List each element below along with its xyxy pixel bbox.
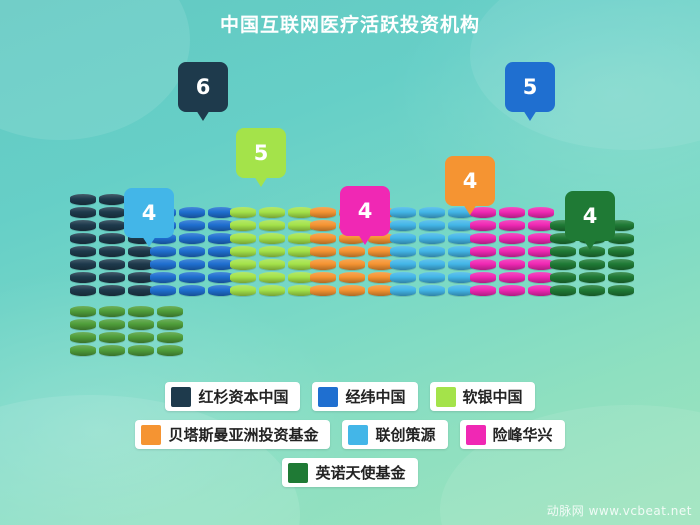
coin — [608, 246, 634, 257]
coin — [150, 272, 176, 283]
coin — [230, 233, 256, 244]
coin — [128, 319, 154, 330]
coin — [499, 220, 525, 231]
coin — [259, 285, 285, 296]
coin — [419, 285, 445, 296]
coin — [499, 259, 525, 270]
coin — [230, 272, 256, 283]
coin — [157, 306, 183, 317]
coin — [390, 233, 416, 244]
coin — [259, 233, 285, 244]
legend-swatch — [318, 387, 338, 407]
coin — [310, 246, 336, 257]
legend-swatch — [348, 425, 368, 445]
coin — [99, 319, 125, 330]
coin — [470, 246, 496, 257]
coin — [339, 259, 365, 270]
legend-label: 经纬中国 — [345, 386, 405, 407]
coin — [470, 272, 496, 283]
coin — [259, 272, 285, 283]
coin — [128, 332, 154, 343]
coin — [70, 207, 96, 218]
coin — [390, 285, 416, 296]
coin — [470, 285, 496, 296]
legend-row: 红杉资本中国经纬中国软银中国 — [0, 382, 700, 411]
coin — [99, 194, 125, 205]
coin-stack — [230, 194, 256, 296]
coin — [419, 246, 445, 257]
legend-label: 贝塔斯曼亚洲投资基金 — [168, 424, 318, 445]
coin — [579, 259, 605, 270]
coin — [70, 332, 96, 343]
value-badge: 4 — [124, 188, 174, 238]
coin-stack — [390, 194, 416, 296]
coin — [179, 207, 205, 218]
coin-stack — [179, 194, 205, 296]
legend-item[interactable]: 联创策源 — [342, 420, 447, 449]
legend-swatch — [141, 425, 161, 445]
legend-item[interactable]: 红杉资本中国 — [165, 382, 300, 411]
coin-stack — [419, 194, 445, 296]
legend-swatch — [288, 463, 308, 483]
coin — [259, 220, 285, 231]
coin — [390, 220, 416, 231]
value-badge: 5 — [505, 62, 555, 112]
coin — [99, 332, 125, 343]
coin-stack — [259, 194, 285, 296]
coin — [99, 285, 125, 296]
coin — [310, 259, 336, 270]
coin — [390, 207, 416, 218]
coin-stack — [70, 181, 96, 296]
coin — [499, 272, 525, 283]
coin — [179, 259, 205, 270]
value-badge: 4 — [565, 191, 615, 241]
coin — [179, 233, 205, 244]
legend-label: 红杉资本中国 — [198, 386, 288, 407]
coin — [470, 220, 496, 231]
legend-item[interactable]: 软银中国 — [430, 382, 535, 411]
coin — [179, 285, 205, 296]
coin — [179, 220, 205, 231]
coin — [499, 207, 525, 218]
coin — [230, 207, 256, 218]
coin — [230, 246, 256, 257]
coin — [339, 272, 365, 283]
coin — [99, 259, 125, 270]
coin — [99, 233, 125, 244]
coin — [259, 246, 285, 257]
coin — [608, 272, 634, 283]
coin — [470, 259, 496, 270]
coin — [419, 233, 445, 244]
legend-label: 联创策源 — [375, 424, 435, 445]
coin — [128, 306, 154, 317]
coin — [150, 285, 176, 296]
coin — [310, 285, 336, 296]
legend-item[interactable]: 经纬中国 — [312, 382, 417, 411]
coin — [339, 246, 365, 257]
coin — [70, 272, 96, 283]
coin — [150, 246, 176, 257]
coin — [70, 319, 96, 330]
coin — [99, 246, 125, 257]
coin — [259, 259, 285, 270]
coin — [579, 272, 605, 283]
coin — [70, 306, 96, 317]
coin — [390, 246, 416, 257]
coin — [550, 272, 576, 283]
coin — [230, 220, 256, 231]
coin-stack — [499, 194, 525, 296]
coin — [230, 259, 256, 270]
value-badge: 5 — [236, 128, 286, 178]
value-badge: 4 — [445, 156, 495, 206]
coin-stack-chart: 6545444 — [0, 46, 700, 376]
legend-item[interactable]: 英诺天使基金 — [282, 458, 417, 487]
coin — [579, 285, 605, 296]
coin — [157, 319, 183, 330]
coin — [499, 246, 525, 257]
page-title: 中国互联网医疗活跃投资机构 — [0, 10, 700, 37]
legend-swatch — [436, 387, 456, 407]
coin — [179, 246, 205, 257]
coin — [150, 259, 176, 270]
value-badge: 6 — [178, 62, 228, 112]
chart-canvas: 中国互联网医疗活跃投资机构 6545444 红杉资本中国经纬中国软银中国贝塔斯曼… — [0, 0, 700, 525]
coin-stack — [99, 181, 125, 296]
coin — [70, 259, 96, 270]
chart-legend: 红杉资本中国经纬中国软银中国贝塔斯曼亚洲投资基金联创策源险峰华兴英诺天使基金 — [0, 382, 700, 496]
coin — [99, 306, 125, 317]
coin — [70, 220, 96, 231]
coin — [310, 272, 336, 283]
coin — [70, 345, 96, 356]
coin — [499, 285, 525, 296]
coin-stack — [310, 194, 336, 296]
coin — [310, 233, 336, 244]
value-badge: 4 — [340, 186, 390, 236]
legend-label: 英诺天使基金 — [315, 462, 405, 483]
coin — [179, 272, 205, 283]
legend-label: 软银中国 — [463, 386, 523, 407]
coin — [550, 259, 576, 270]
coin — [608, 285, 634, 296]
coin — [419, 207, 445, 218]
coin — [550, 246, 576, 257]
coin — [310, 220, 336, 231]
coin — [70, 285, 96, 296]
coin — [419, 272, 445, 283]
coin — [128, 345, 154, 356]
coin — [419, 220, 445, 231]
legend-item[interactable]: 险峰华兴 — [460, 420, 565, 449]
coin — [608, 259, 634, 270]
legend-row: 英诺天使基金 — [0, 458, 700, 487]
coin — [550, 285, 576, 296]
coin — [310, 207, 336, 218]
legend-row: 贝塔斯曼亚洲投资基金联创策源险峰华兴 — [0, 420, 700, 449]
legend-swatch — [171, 387, 191, 407]
coin — [157, 332, 183, 343]
coin — [259, 207, 285, 218]
coin — [390, 272, 416, 283]
coin — [99, 220, 125, 231]
coin — [419, 259, 445, 270]
legend-label: 险峰华兴 — [493, 424, 553, 445]
coin — [499, 233, 525, 244]
coin — [390, 259, 416, 270]
coin — [99, 272, 125, 283]
coin — [470, 233, 496, 244]
coin — [99, 345, 125, 356]
coin — [157, 345, 183, 356]
watermark: 动脉网 www.vcbeat.net — [547, 502, 692, 519]
coin — [339, 285, 365, 296]
coin — [70, 246, 96, 257]
coin — [70, 194, 96, 205]
legend-item[interactable]: 贝塔斯曼亚洲投资基金 — [135, 420, 330, 449]
legend-swatch — [466, 425, 486, 445]
coin — [230, 285, 256, 296]
coin — [99, 207, 125, 218]
coin — [70, 233, 96, 244]
